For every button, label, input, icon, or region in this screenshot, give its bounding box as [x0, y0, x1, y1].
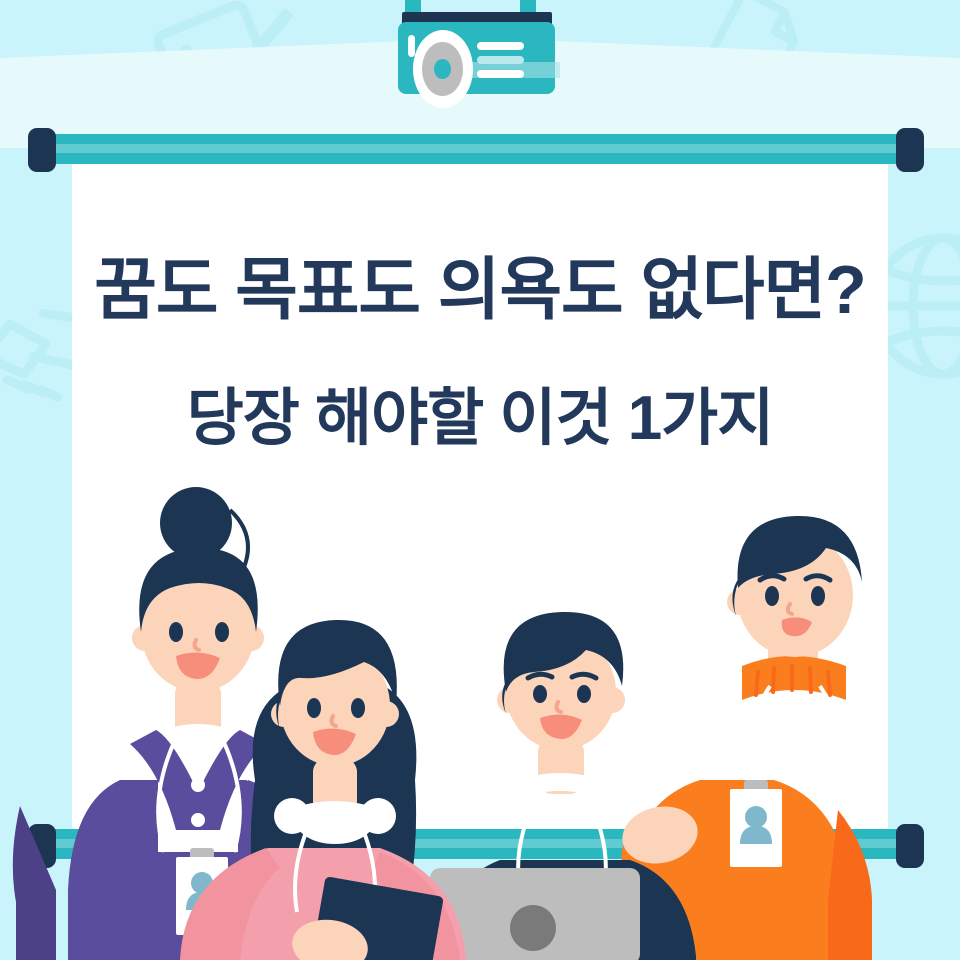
- headline-block: 꿈도 목표도 의욕도 없다면? 당장 해야할 이것 1가지: [72, 255, 888, 451]
- screen-cap-top-left: [28, 128, 56, 172]
- screen-top-stripe-1: [50, 134, 910, 144]
- headline-line-2: 당장 해야할 이것 1가지: [72, 386, 888, 451]
- screen-top-stripe-2: [50, 144, 910, 153]
- projector-vent-icon: [477, 56, 524, 64]
- screen-top-bar: [50, 134, 910, 164]
- poster-canvas: 꿈도 목표도 의욕도 없다면? 당장 해야할 이것 1가지: [0, 0, 960, 960]
- projector-slot-icon: [408, 35, 415, 57]
- projector: [360, 0, 610, 115]
- person-navy-man: [430, 612, 696, 960]
- screen-cap-top-right: [896, 128, 924, 172]
- projector-vent-icon: [477, 70, 524, 78]
- headline-line-1: 꿈도 목표도 의욕도 없다면?: [72, 255, 888, 326]
- people-illustration: [0, 480, 960, 960]
- screen-top-stripe-3: [50, 153, 910, 164]
- projector-lens-center: [434, 59, 451, 79]
- globe-icon: [888, 228, 960, 388]
- projector-vent-icon: [477, 42, 524, 50]
